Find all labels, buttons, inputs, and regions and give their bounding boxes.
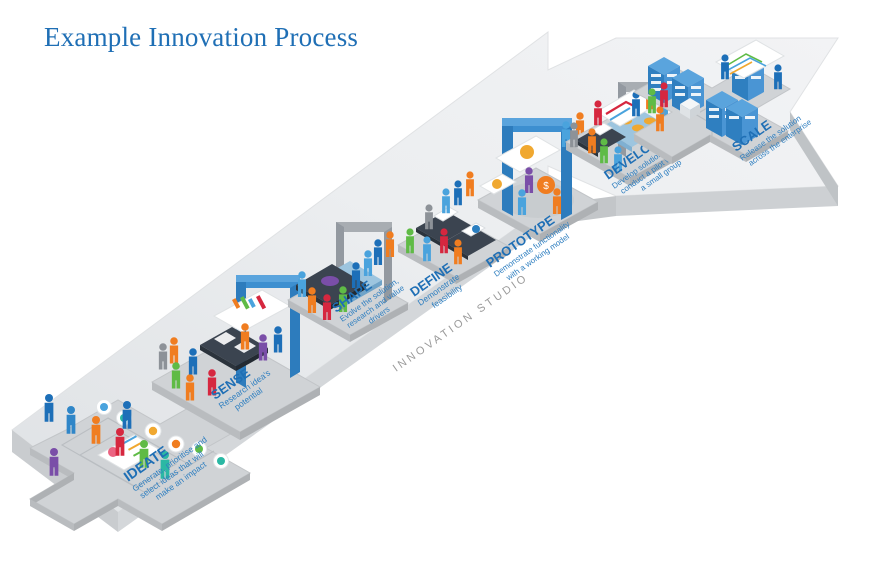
svg-text:$: $ [543,181,549,192]
prototype-coin-icon: $ [537,176,555,194]
innovation-process-illustration: INNOVATION STUDIO [0,0,870,575]
infographic-canvas: Example Innovation Process [0,0,870,575]
